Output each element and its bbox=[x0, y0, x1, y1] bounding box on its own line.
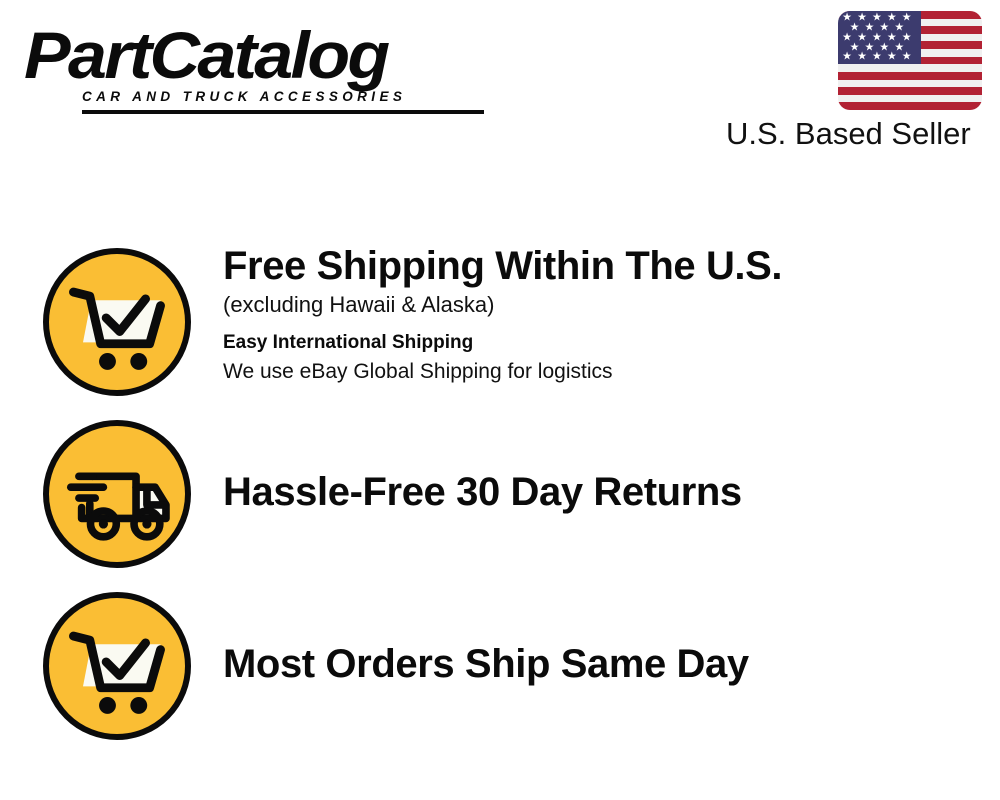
us-flag-icon: ★ ★ ★ ★ ★ ★ ★ ★ ★ ★ ★ ★ ★ ★ ★ ★ ★ ★ ★ ★ … bbox=[838, 11, 982, 110]
us-based-seller-label: U.S. Based Seller bbox=[726, 116, 971, 152]
brand-wordmark: PartCatalog bbox=[24, 22, 522, 88]
promo-banner: PartCatalog CAR AND TRUCK ACCESSORIES ★ … bbox=[0, 0, 1000, 800]
cart-check-icon bbox=[43, 248, 191, 396]
feature-title: Free Shipping Within The U.S. bbox=[223, 242, 782, 290]
feature-title: Hassle-Free 30 Day Returns bbox=[223, 468, 742, 516]
delivery-truck-icon bbox=[43, 420, 191, 568]
feature-text-block: Hassle-Free 30 Day Returns bbox=[223, 468, 742, 516]
cart-check-icon bbox=[43, 592, 191, 740]
feature-text-block: Free Shipping Within The U.S. (excluding… bbox=[223, 242, 782, 387]
flag-canton: ★ ★ ★ ★ ★ ★ ★ ★ ★ ★ ★ ★ ★ ★ ★ ★ ★ ★ ★ ★ … bbox=[838, 11, 921, 64]
feature-text-block: Most Orders Ship Same Day bbox=[223, 640, 749, 688]
feature-subtitle: (excluding Hawaii & Alaska) bbox=[223, 290, 782, 320]
brand-logo: PartCatalog CAR AND TRUCK ACCESSORIES bbox=[24, 22, 494, 114]
feature-sub-heading: Easy International Shipping bbox=[223, 329, 782, 357]
feature-sub-body: We use eBay Global Shipping for logistic… bbox=[223, 357, 782, 387]
brand-underline-rule bbox=[82, 110, 484, 114]
feature-title: Most Orders Ship Same Day bbox=[223, 640, 749, 688]
